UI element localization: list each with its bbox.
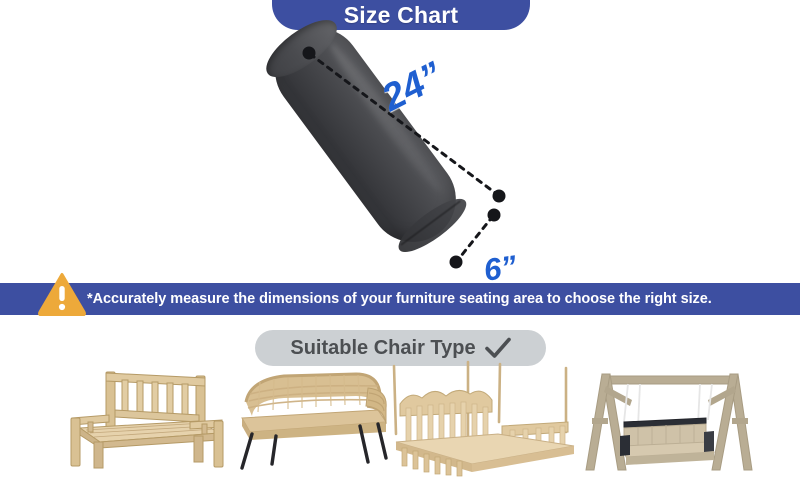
- warning-strip: *Accurately measure the dimensions of yo…: [0, 283, 800, 315]
- measurement-lines: [0, 30, 800, 283]
- checkmark-icon: [485, 337, 511, 359]
- size-chart-page: Size Chart 24” 6” *Accurately measure th…: [0, 0, 800, 495]
- width-dimension-label: 6”: [482, 251, 519, 286]
- length-endpoint-end: [493, 190, 506, 203]
- width-endpoint-start: [488, 209, 501, 222]
- length-endpoint-start: [303, 47, 316, 60]
- suitable-furniture-list: [0, 360, 800, 480]
- furniture-item-hanging-porch-swing-bed: [386, 360, 576, 478]
- furniture-item-a-frame-porch-swing: [580, 360, 760, 478]
- product-illustration-area: 24” 6”: [0, 30, 800, 283]
- warning-text: *Accurately measure the dimensions of yo…: [87, 291, 712, 307]
- page-title: Size Chart: [344, 4, 458, 27]
- furniture-item-wooden-garden-bench: [62, 360, 232, 478]
- width-endpoint-end: [450, 256, 463, 269]
- suitable-chair-type-label: Suitable Chair Type: [290, 338, 475, 358]
- warning-triangle-icon: [38, 272, 86, 316]
- furniture-item-rattan-wicker-sofa: [228, 360, 396, 478]
